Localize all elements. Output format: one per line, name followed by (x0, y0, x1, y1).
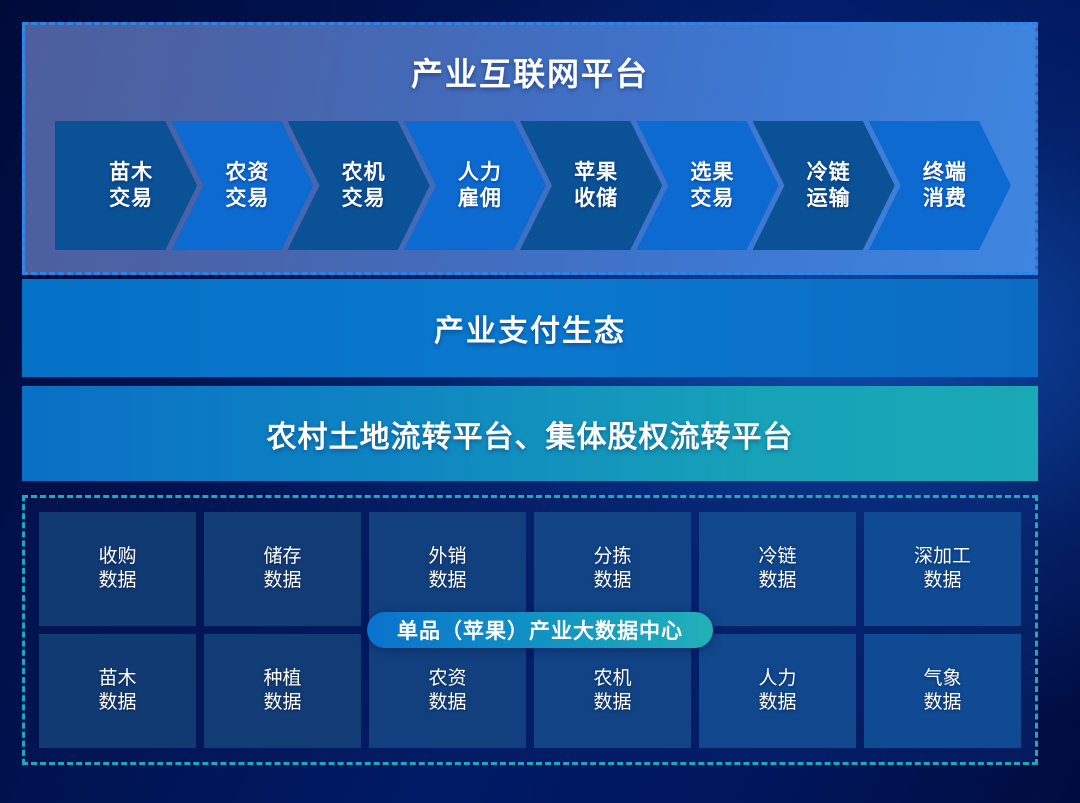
data-cell-cold-chain[interactable]: 冷链 数据 (699, 512, 856, 626)
payment-ecosystem-band[interactable]: 产业支付生态 (22, 279, 1038, 377)
data-cell-planting[interactable]: 种植 数据 (204, 634, 361, 748)
data-cell-deep-processing[interactable]: 深加工 数据 (864, 512, 1021, 626)
data-cell-agri-materials[interactable]: 农资 数据 (369, 634, 526, 748)
chevron-label: 选果 交易 (680, 160, 734, 211)
diagram-canvas: 产业互联网平台 苗木 交易 农资 交易 农机 交易 人力 雇佣 苹果 收储 (0, 0, 1080, 803)
data-cell-weather[interactable]: 气象 数据 (864, 634, 1021, 748)
data-cell-export-sales[interactable]: 外销 数据 (369, 512, 526, 626)
chevron-label: 人力 雇佣 (448, 160, 502, 211)
land-transfer-label: 农村土地流转平台、集体股权流转平台 (267, 412, 794, 456)
big-data-center-badge[interactable]: 单品（苹果）产业大数据中心 (367, 612, 713, 648)
chevron-label: 农资 交易 (215, 160, 269, 211)
data-cell-sorting[interactable]: 分拣 数据 (534, 512, 691, 626)
data-cell-purchase[interactable]: 收购 数据 (39, 512, 196, 626)
data-cell-seedling[interactable]: 苗木 数据 (39, 634, 196, 748)
land-transfer-band[interactable]: 农村土地流转平台、集体股权流转平台 (22, 386, 1038, 481)
chevron-label: 冷链 运输 (797, 160, 851, 211)
chevron-label: 苹果 收储 (564, 160, 618, 211)
chevron-step-8[interactable]: 终端 消费 (869, 121, 1011, 250)
big-data-center-label: 单品（苹果）产业大数据中心 (397, 615, 683, 645)
chevron-label: 苗木 交易 (99, 160, 153, 211)
page-title: 产业互联网平台 (25, 49, 1035, 95)
data-cell-labor[interactable]: 人力 数据 (699, 634, 856, 748)
value-chain-chevron-strip: 苗木 交易 农资 交易 农机 交易 人力 雇佣 苹果 收储 选果 交易 (55, 121, 1011, 250)
chevron-label: 终端 消费 (913, 160, 967, 211)
data-cell-agri-machinery[interactable]: 农机 数据 (534, 634, 691, 748)
data-cell-storage[interactable]: 储存 数据 (204, 512, 361, 626)
chevron-label: 农机 交易 (332, 160, 386, 211)
payment-ecosystem-label: 产业支付生态 (434, 306, 626, 350)
industrial-internet-platform-panel: 产业互联网平台 苗木 交易 农资 交易 农机 交易 人力 雇佣 苹果 收储 (22, 22, 1038, 275)
